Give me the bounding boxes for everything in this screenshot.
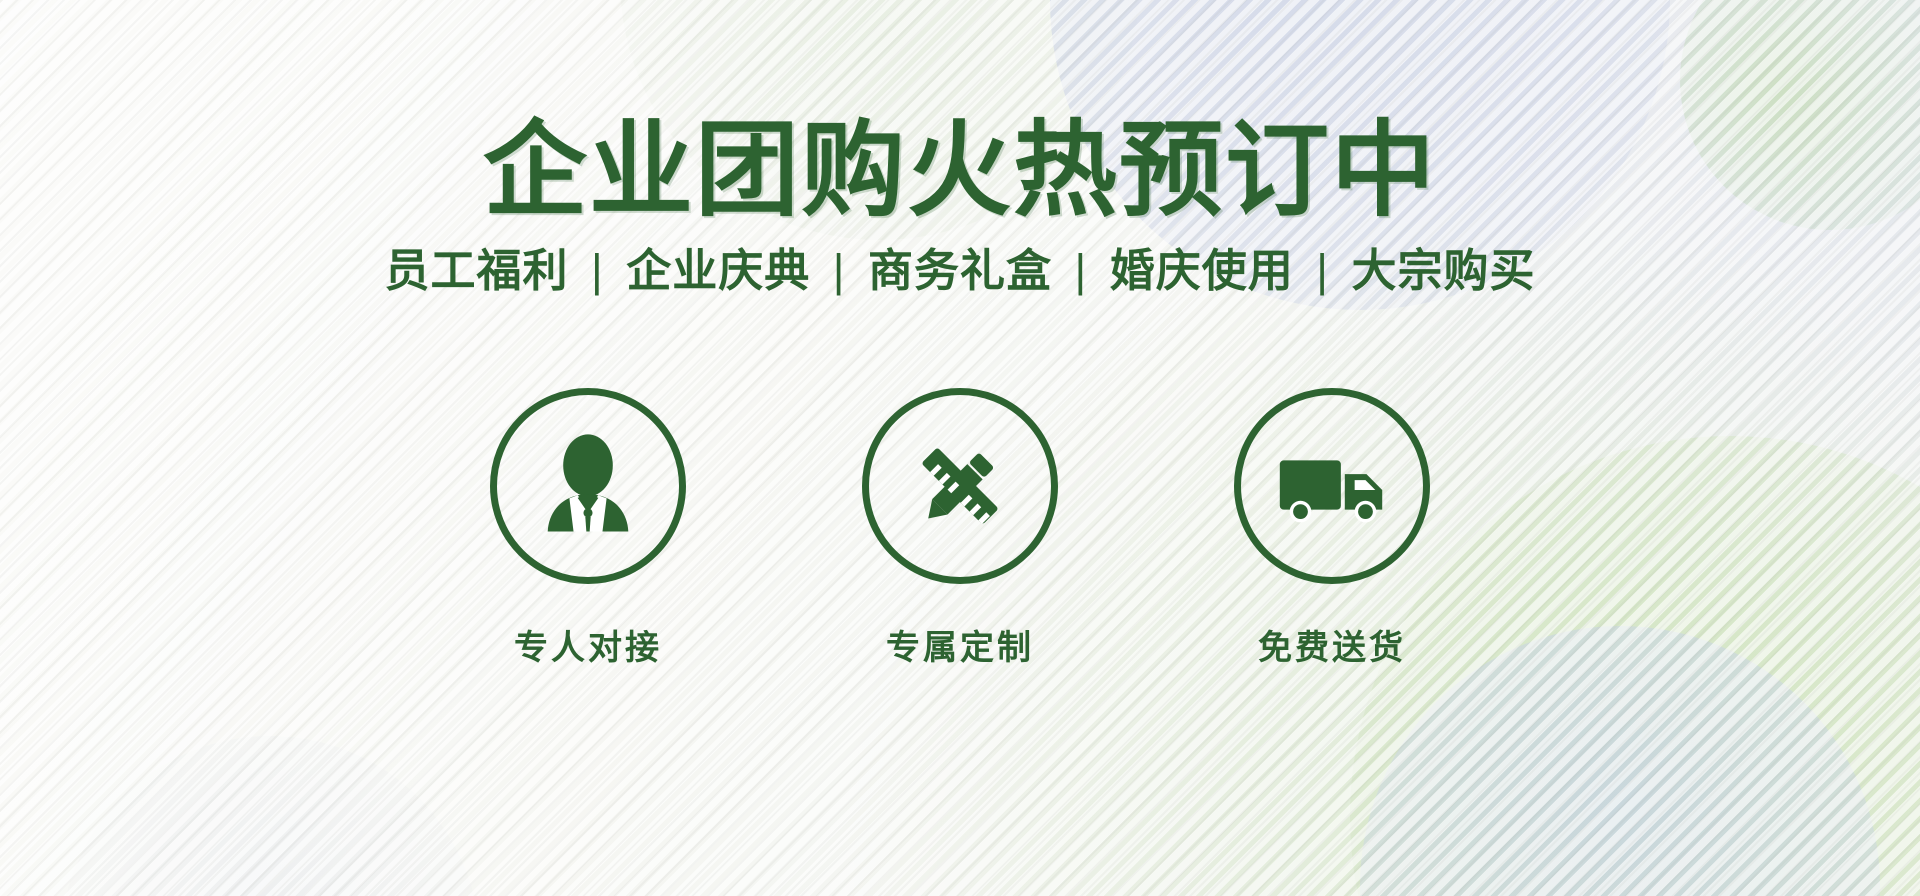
banner-content: 企业团购火热预订中 员工福利 | 企业庆典 | 商务礼盒 | 婚庆使用 | 大宗… <box>0 0 1920 896</box>
businessman-icon <box>526 424 650 548</box>
feature-item-dedicated-contact[interactable]: 专人对接 <box>443 388 733 669</box>
feature-label: 专人对接 <box>514 620 662 669</box>
subtitle-separator: | <box>824 245 855 296</box>
subtitle-separator: | <box>1066 245 1097 296</box>
subtitle-item-3: 商务礼盒 <box>868 245 1052 296</box>
subtitle-item-1: 员工福利 <box>384 245 568 296</box>
feature-row: 专人对接 <box>443 388 1477 669</box>
feature-icon-circle <box>862 388 1058 584</box>
feature-label: 免费送货 <box>1258 620 1406 669</box>
feature-icon-circle <box>1234 388 1430 584</box>
subtitle-item-5: 大宗购买 <box>1351 245 1535 296</box>
subtitle: 员工福利 | 企业庆典 | 商务礼盒 | 婚庆使用 | 大宗购买 <box>384 246 1535 296</box>
subtitle-item-2: 企业庆典 <box>626 245 810 296</box>
subtitle-separator: | <box>582 245 613 296</box>
feature-label: 专属定制 <box>886 620 1034 669</box>
subtitle-item-4: 婚庆使用 <box>1110 245 1294 296</box>
headline: 企业团购火热预订中 <box>483 118 1437 224</box>
feature-item-custom-made[interactable]: 专属定制 <box>815 388 1105 669</box>
feature-item-free-delivery[interactable]: 免费送货 <box>1187 388 1477 669</box>
delivery-truck-icon <box>1268 422 1396 550</box>
subtitle-separator: | <box>1307 245 1338 296</box>
promo-banner: 企业团购火热预订中 员工福利 | 企业庆典 | 商务礼盒 | 婚庆使用 | 大宗… <box>0 0 1920 896</box>
feature-icon-circle <box>490 388 686 584</box>
pencil-ruler-icon <box>898 424 1022 548</box>
